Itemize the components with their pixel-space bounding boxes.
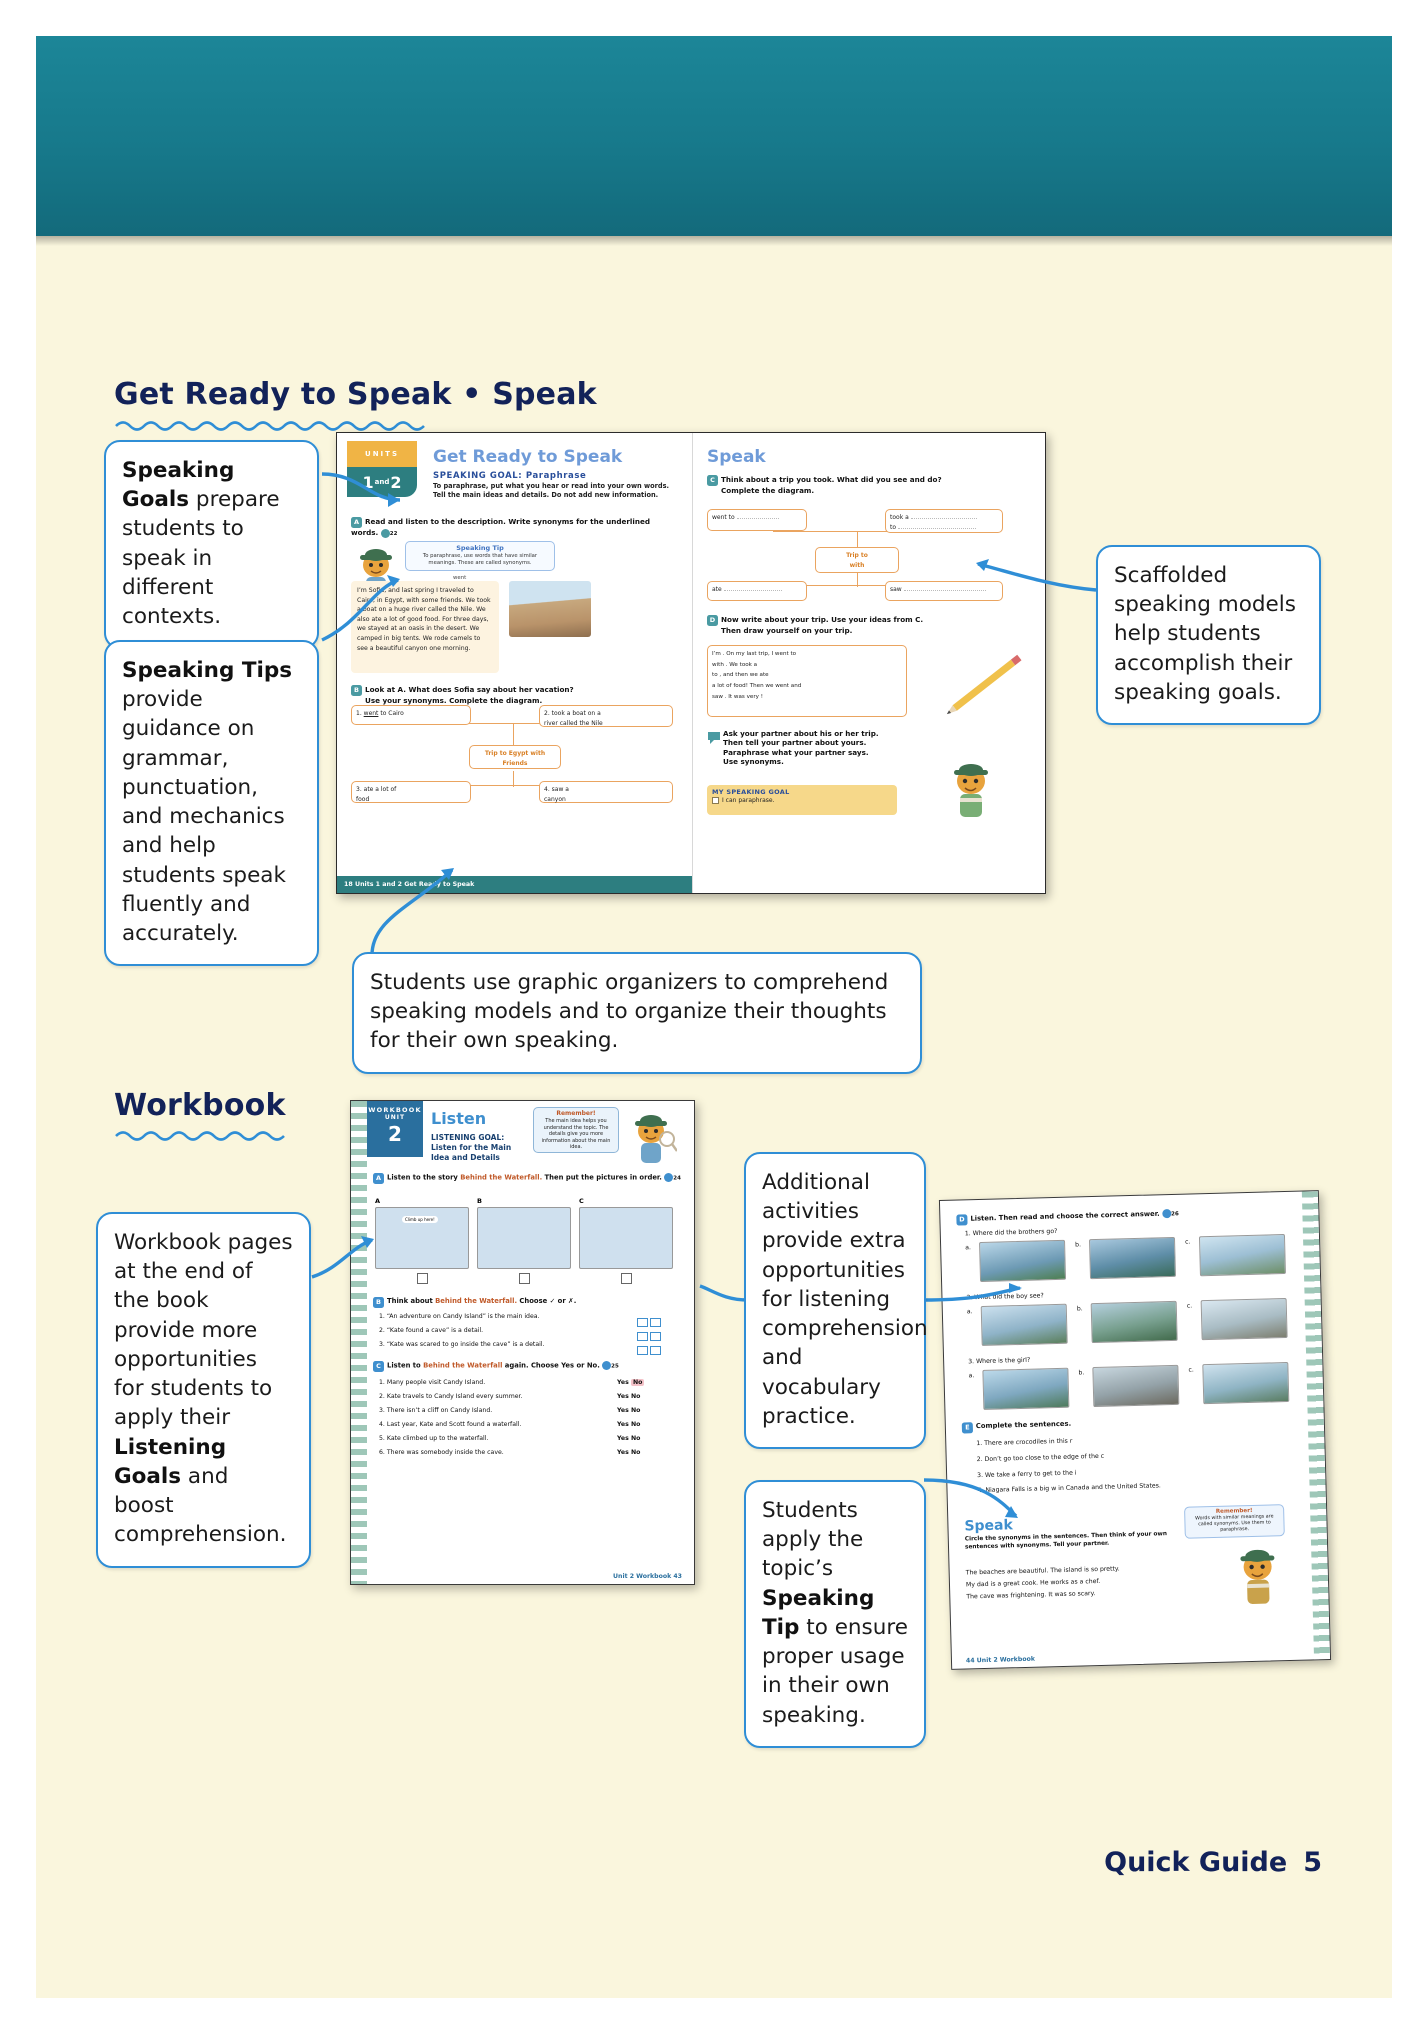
workbook-speak-sentence-3: The cave was frightening. It was so scar…: [966, 1589, 1095, 1603]
speaking-tip-title: Speaking Tip: [406, 542, 554, 552]
picture-label-c: C: [579, 1197, 584, 1205]
workbook-unit-tag: WORKBOOK UNIT 2: [367, 1101, 423, 1157]
workbook-activity-a-badge: A: [373, 1173, 384, 1184]
q1-opt-b[interactable]: b.: [1075, 1239, 1081, 1251]
yes-6[interactable]: Yes: [617, 1449, 629, 1456]
header-teal-band: [36, 36, 1392, 236]
workbook-c-choice-2[interactable]: Yes No: [617, 1391, 640, 1403]
workbook-activity-a-story-title: Behind the Waterfall.: [460, 1174, 542, 1182]
q2-photo-c[interactable]: [1201, 1298, 1288, 1340]
workbook-title: Listen: [431, 1109, 486, 1128]
yes-3[interactable]: Yes: [617, 1407, 629, 1414]
page-frame-top: [0, 0, 1428, 36]
page-frame-left: [0, 0, 36, 2028]
mascot-character-right: [945, 759, 997, 821]
unit-conj: and: [375, 478, 390, 486]
workbook-tag-word: WORKBOOK: [367, 1101, 423, 1114]
workbook-activity-c-instruction-1: Listen to: [387, 1362, 423, 1370]
workbook-remember-body: The main idea helps you understand the t…: [534, 1117, 618, 1154]
callout-speaking-tips: Speaking Tips provide guidance on gramma…: [104, 640, 319, 966]
q1-opt-a[interactable]: a.: [965, 1242, 971, 1254]
workbook-e-item-4[interactable]: 4. Niagara Falls is a big w in Canada an…: [977, 1478, 1277, 1495]
unit-tab: UNITS 1and2: [347, 441, 417, 497]
no-6[interactable]: No: [631, 1449, 640, 1456]
callout-speaking-goals: Speaking Goals prepare students to speak…: [104, 440, 319, 649]
organizer-c-node-5-label: saw: [890, 586, 902, 593]
callout-speaking-tips-text: provide guidance on grammar, punctuation…: [122, 687, 286, 946]
photo-cairo: [509, 581, 591, 637]
activity-a: ARead and listen to the description. Wri…: [351, 517, 676, 538]
audio-track-wb-a: 24: [673, 1176, 681, 1182]
speaking-tip-body: To paraphrase, use words that have simil…: [406, 552, 554, 569]
picture-order-box-a[interactable]: [417, 1273, 428, 1284]
story-picture-b: [477, 1207, 571, 1269]
workbook-c-item-6: 6. There was somebody inside the cave.: [379, 1447, 629, 1459]
workbook-c-item-3: 3. There isn’t a cliff on Candy Island.: [379, 1405, 629, 1417]
organizer-node-4-num: 4.: [544, 786, 550, 793]
mascot-character-workbook: [627, 1109, 677, 1165]
page-frame-right: [1392, 0, 1428, 2028]
organizer-c-center-1: Trip to: [846, 552, 868, 559]
section-heading-get-ready: Get Ready to Speak • Speak: [114, 377, 597, 412]
unit-tab-numbers: 1and2: [347, 467, 417, 497]
workbook-b-answer-3[interactable]: [637, 1340, 663, 1359]
activity-d-badge: D: [707, 615, 718, 626]
q1-photo-c[interactable]: [1199, 1234, 1286, 1276]
callout-apply-speaking-tip-text-1: Students apply the topic’s: [762, 1498, 863, 1581]
writing-frame-line-5: saw . It was very !: [712, 692, 902, 703]
activity-b: BLook at A. What does Sofia say about he…: [351, 685, 671, 705]
yes-4[interactable]: Yes: [617, 1421, 629, 1428]
activity-b-instruction-1: Look at A. What does Sofia say about her…: [365, 685, 574, 694]
callout-workbook-pages: Workbook pages at the end of the book pr…: [96, 1212, 311, 1568]
organizer-node-3-num: 3.: [356, 786, 362, 793]
unit-number-1: 1: [363, 473, 374, 492]
workbook-d-q3: 3. Where is the girl?: [968, 1355, 1030, 1368]
audio-icon-wb-c: [602, 1361, 611, 1370]
callout-graphic-organizers: Students use graphic organizers to compr…: [352, 952, 922, 1074]
workbook-c-choice-4[interactable]: Yes No: [617, 1419, 640, 1431]
mascot-character-workbook-right: [1231, 1544, 1287, 1607]
my-goal-checkbox[interactable]: [712, 797, 719, 804]
left-page-footer: 18 Units 1 and 2 Get Ready to Speak: [337, 876, 692, 893]
organizer-c-node-4-label: ate: [712, 586, 722, 593]
workbook-b-item-2: 2. “Kate found a cave” is a detail.: [379, 1325, 629, 1337]
workbook-activity-e: EComplete the sentences.: [962, 1415, 1262, 1434]
workbook-activity-b: BThink about Behind the Waterfall. Choos…: [373, 1297, 683, 1308]
page-footer-label: Quick Guide: [1104, 1847, 1287, 1878]
yes-5[interactable]: Yes: [617, 1435, 629, 1442]
workbook-c-item-2: 2. Kate travels to Candy Island every su…: [379, 1391, 629, 1403]
workbook-c-choice-3[interactable]: Yes No: [617, 1405, 640, 1417]
writing-frame-line-4: a lot of food! Then we went and: [712, 681, 902, 692]
organizer-connector-mid: [513, 723, 514, 747]
q2-opt-b[interactable]: b.: [1077, 1303, 1083, 1315]
organizer-c-blank-4[interactable]: [724, 590, 782, 591]
organizer-node-4-prefix: saw a: [552, 786, 569, 793]
workbook-activity-e-badge: E: [962, 1422, 973, 1433]
q2-photo-a[interactable]: [981, 1304, 1068, 1346]
student-book-left-page: UNITS 1and2 Get Ready to Speak SPEAKING …: [337, 433, 692, 893]
workbook-d-q1: 1. Where did the brothers go?: [965, 1226, 1058, 1240]
student-book-right-page: Speak CThink about a trip you took. What…: [692, 433, 1046, 893]
organizer-c-blank-3[interactable]: [898, 528, 976, 529]
workbook-left-page: WORKBOOK UNIT 2 Listen LISTENING GOAL: L…: [350, 1100, 695, 1585]
workbook-speak-remember-box: Remember! Words with similar meanings ar…: [1184, 1504, 1285, 1539]
q3-opt-b[interactable]: b.: [1078, 1367, 1084, 1379]
activity-c: CThink about a trip you took. What did y…: [707, 475, 1027, 495]
q2-opt-c[interactable]: c.: [1187, 1300, 1193, 1312]
yes-1[interactable]: Yes: [617, 1379, 629, 1386]
q2-photo-b[interactable]: [1091, 1301, 1178, 1343]
writing-frame-line-1: I’m . On my last trip, I went to: [712, 649, 902, 660]
student-book-spread: UNITS 1and2 Get Ready to Speak SPEAKING …: [336, 432, 1046, 894]
workbook-speak-instruction: Circle the synonyms in the sentences. Th…: [965, 1531, 1175, 1552]
q3-opt-a[interactable]: a.: [968, 1370, 974, 1382]
header-band-shadow: [36, 236, 1392, 246]
q3-opt-c[interactable]: c.: [1188, 1364, 1194, 1376]
organizer-c-node-2: took a to: [885, 509, 1003, 533]
workbook-right-page: DListen. Then read and choose the correc…: [939, 1190, 1331, 1670]
no-5[interactable]: No: [631, 1435, 640, 1442]
q3-photo-c[interactable]: [1202, 1362, 1289, 1404]
workbook-activity-a-instruction-2: Then put the pictures in order.: [542, 1174, 662, 1182]
q1-num: 1.: [965, 1230, 971, 1237]
workbook-c-choice-6[interactable]: Yes No: [617, 1447, 640, 1459]
callout-apply-speaking-tip: Students apply the topic’s Speaking Tip …: [744, 1480, 926, 1748]
workbook-activity-c-badge: C: [373, 1361, 384, 1372]
activity-d-instruction-1: Now write about your trip. Use your idea…: [721, 615, 923, 624]
drawing-area-pencil: [915, 645, 1035, 721]
workbook-c-choice-1[interactable]: Yes No: [617, 1377, 644, 1389]
q1-photo-a[interactable]: [979, 1240, 1066, 1282]
no-2[interactable]: No: [631, 1393, 640, 1400]
no-4[interactable]: No: [631, 1421, 640, 1428]
organizer-c-blank-1[interactable]: [737, 518, 779, 519]
workbook-activity-b-story-title: Behind the Waterfall.: [435, 1297, 517, 1305]
activity-e: Ask your partner about his or her trip. …: [707, 729, 887, 766]
workbook-activity-b-instruction-2: Choose ✓ or ✗.: [517, 1297, 576, 1305]
my-speaking-goal-item[interactable]: I can paraphrase.: [707, 797, 897, 807]
speaking-goal-text-2: Tell the main ideas and details. Do not …: [433, 491, 683, 499]
workbook-tag-number: 2: [367, 1121, 423, 1144]
organizer-node-1-prefix: went: [364, 710, 379, 717]
workbook-activity-b-instruction-1: Think about: [387, 1297, 435, 1305]
workbook-c-item-1: 1. Many people visit Candy Island.: [379, 1377, 629, 1389]
workbook-c-item-5: 5. Kate climbed up to the waterfall.: [379, 1433, 629, 1445]
no-3[interactable]: No: [631, 1407, 640, 1414]
story-picture-c: [579, 1207, 673, 1269]
organizer-node-2-text: river called the Nile: [544, 719, 668, 729]
organizer-node-3-prefix: ate a lot of: [364, 786, 397, 793]
organizer-node-3: 3. ate a lot of food: [351, 781, 471, 803]
organizer-c-blank-5[interactable]: [904, 590, 986, 591]
activity-a-badge: A: [351, 517, 362, 528]
workbook-d-q2: 2. What did the boy see?: [966, 1290, 1044, 1304]
workbook-c-choice-5[interactable]: Yes No: [617, 1433, 640, 1445]
workbook-activity-a-instruction-1: Listen to the story: [387, 1174, 460, 1182]
q3-photo-b[interactable]: [1092, 1365, 1179, 1407]
activity-c-instruction-2: Complete the diagram.: [707, 486, 1027, 495]
workbook-remember-title: Remember!: [534, 1108, 618, 1117]
story-picture-a: Climb up here!: [375, 1207, 469, 1269]
organizer-c-blank-2[interactable]: [911, 518, 977, 519]
left-page-title: Get Ready to Speak: [433, 447, 622, 467]
workbook-activity-a: AListen to the story Behind the Waterfal…: [373, 1173, 683, 1184]
section-squiggle-1: [114, 418, 444, 432]
callout-scaffolded-models: Scaffolded speaking models help students…: [1096, 545, 1321, 725]
page-footer-number: 5: [1303, 1847, 1322, 1878]
picture-order-box-b[interactable]: [519, 1273, 530, 1284]
organizer-c-node-3-label: to: [890, 524, 896, 531]
workbook-activity-e-instruction: Complete the sentences.: [976, 1420, 1071, 1430]
picture-caption: Climb up here!: [402, 1216, 438, 1223]
organizer-c-node-5: saw: [885, 581, 1003, 601]
activity-e-instruction: Ask your partner about his or her trip. …: [723, 729, 883, 766]
writing-frame[interactable]: I’m . On my last trip, I went to with . …: [707, 645, 907, 717]
workbook-left-footer: Unit 2 Workbook 43: [613, 1573, 682, 1580]
organizer-node-4-text: canyon: [544, 795, 668, 805]
unit-tab-label: UNITS: [347, 441, 417, 467]
workbook-speak-remember-body: Words with similar meanings are called s…: [1185, 1513, 1284, 1538]
q1-photo-b[interactable]: [1089, 1237, 1176, 1279]
organizer-node-1-num: 1.: [356, 710, 362, 717]
q1-opt-c[interactable]: c.: [1185, 1236, 1191, 1248]
callout-scaffolded-models-text: Scaffolded speaking models help students…: [1114, 563, 1296, 705]
callout-additional-activities-text: Additional activities provide extra oppo…: [762, 1170, 928, 1429]
unit-number-2: 2: [390, 473, 401, 492]
reading-passage: I’m Sofia, and last spring I traveled to…: [351, 581, 499, 673]
writing-frame-line-3: to , and then we ate: [712, 670, 902, 681]
workbook-c-item-4: 4. Last year, Kate and Scott found a wat…: [379, 1419, 629, 1431]
organizer-node-2-prefix: took a boat on a: [552, 710, 601, 717]
workbook-remember-box: Remember! The main idea helps you unders…: [533, 1107, 619, 1153]
workbook-right-footer: 44 Unit 2 Workbook: [966, 1656, 1035, 1665]
callout-graphic-organizers-text: Students use graphic organizers to compr…: [370, 970, 888, 1053]
workbook-activity-b-badge: B: [373, 1297, 384, 1308]
q2-num: 2.: [966, 1294, 972, 1301]
writing-frame-line-2: with . We took a: [712, 660, 902, 671]
page-footer: Quick Guide5: [1104, 1847, 1322, 1878]
my-speaking-goal-title: MY SPEAKING GOAL: [707, 785, 897, 797]
q1-text: Where did the brothers go?: [973, 1228, 1058, 1237]
workbook-tag-unit-label: UNIT: [367, 1114, 423, 1121]
activity-b-badge: B: [351, 685, 362, 696]
speaking-goal-text-1: To paraphrase, put what you hear or read…: [433, 482, 683, 490]
organizer-node-1-text: to Cairo: [380, 710, 403, 717]
activity-b-instruction-2: Use your synonyms. Complete the diagram.: [351, 696, 671, 705]
callout-additional-activities: Additional activities provide extra oppo…: [744, 1152, 926, 1449]
yes-2[interactable]: Yes: [617, 1393, 629, 1400]
q3-num: 3.: [968, 1358, 974, 1365]
organizer-center-text: Trip to Egypt with Friends: [485, 750, 545, 767]
workbook-activity-c-instruction-2: again. Choose Yes or No.: [502, 1362, 599, 1370]
organizer-c-center: Trip to with: [815, 547, 899, 573]
organizer-node-2: 2. took a boat on a river called the Nil…: [539, 705, 673, 727]
callout-speaking-tips-bold: Speaking Tips: [122, 658, 292, 683]
activity-c-badge: C: [707, 475, 718, 486]
workbook-b-item-1: 1. “An adventure on Candy Island” is the…: [379, 1311, 629, 1323]
quick-guide-page: Get Ready to Speak • Speak Speaking Goal…: [0, 0, 1428, 2028]
organizer-c-node-1-label: went to: [712, 514, 735, 521]
workbook-b-item-3: 3. “Kate was scared to go inside the cav…: [379, 1339, 629, 1351]
picture-label-b: B: [477, 1197, 482, 1205]
picture-order-box-c[interactable]: [621, 1273, 632, 1284]
callout-workbook-pages-text-1: Workbook pages at the end of the book pr…: [114, 1230, 293, 1430]
workbook-right-edge-stripe: [1302, 1191, 1330, 1659]
audio-track-wb-c: 25: [611, 1364, 619, 1370]
section-squiggle-2: [114, 1128, 294, 1142]
organizer-c-node-4: ate: [707, 581, 807, 601]
my-goal-item-text: I can paraphrase.: [722, 797, 774, 804]
workbook-edge-stripe: [351, 1101, 367, 1584]
my-speaking-goal-box: MY SPEAKING GOAL I can paraphrase.: [707, 785, 897, 815]
organizer-connector-mid2: [513, 771, 514, 787]
picture-label-a: A: [375, 1197, 380, 1205]
q3-photo-a[interactable]: [982, 1368, 1069, 1410]
organizer-c-connector-mid2: [857, 573, 858, 587]
audio-track-a: 22: [390, 531, 398, 537]
q2-opt-a[interactable]: a.: [967, 1306, 973, 1318]
no-1[interactable]: No: [631, 1379, 644, 1386]
workbook-goal-label: LISTENING GOAL:: [431, 1133, 521, 1143]
organizer-node-2-num: 2.: [544, 710, 550, 717]
speech-bubble-icon: [707, 731, 721, 745]
organizer-c-node-2-label: took a: [890, 514, 909, 521]
section-heading-workbook: Workbook: [114, 1088, 286, 1123]
activity-c-instruction-1: Think about a trip you took. What did yo…: [721, 475, 942, 484]
activity-d-instruction-2: Then draw yourself on your trip.: [707, 626, 1027, 635]
workbook-activity-d: DListen. Then read and choose the correc…: [956, 1206, 1296, 1226]
page-frame-bottom: [0, 1998, 1428, 2028]
workbook-activity-d-badge: D: [956, 1214, 967, 1225]
speaking-tip-box: Speaking Tip To paraphrase, use words th…: [405, 541, 555, 571]
audio-icon-wb-a: [664, 1173, 673, 1182]
right-page-title: Speak: [707, 447, 766, 467]
q3-text: Where is the girl?: [976, 1357, 1030, 1365]
organizer-c-center-2: with: [820, 561, 894, 571]
audio-track-wb-d: 26: [1171, 1211, 1179, 1217]
organizer-center: Trip to Egypt with Friends: [469, 745, 561, 769]
speaking-goal-label: SPEAKING GOAL: Paraphrase: [433, 471, 586, 481]
organizer-node-4: 4. saw a canyon: [539, 781, 673, 803]
activity-d: DNow write about your trip. Use your ide…: [707, 615, 1027, 635]
organizer-node-1: 1. went to Cairo: [351, 705, 471, 725]
audio-icon-wb-d: [1162, 1209, 1171, 1218]
workbook-goal-text: Listen for the Main Idea and Details: [431, 1143, 526, 1163]
organizer-node-3-text: food: [356, 795, 466, 805]
workbook-activity-c-story-title: Behind the Waterfall: [423, 1362, 502, 1370]
organizer-c-node-1: went to: [707, 509, 807, 531]
workbook-activity-d-instruction: Listen. Then read and choose the correct…: [970, 1210, 1160, 1223]
reading-annotation: went: [453, 575, 466, 581]
q2-text: What did the boy see?: [974, 1292, 1044, 1301]
workbook-speak-title: Speak: [964, 1517, 1013, 1534]
workbook-activity-c: CListen to Behind the Waterfall again. C…: [373, 1361, 683, 1372]
audio-icon-a: [381, 529, 390, 538]
